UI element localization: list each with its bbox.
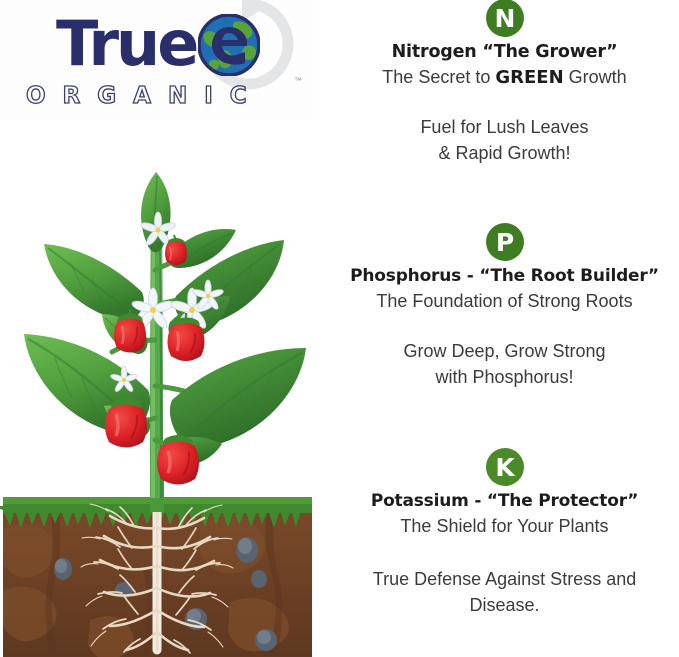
nutrient-block-nitrogen: N Nitrogen “The Grower” The Secret to GR… <box>330 2 679 166</box>
nutrient-block-potassium: K Potassium - “The Protector” The Shield… <box>330 447 679 618</box>
globe-e-icon <box>198 14 260 76</box>
nutrient-title: Phosphorus - “The Root Builder” <box>330 266 679 286</box>
tagline-line: Disease. <box>330 592 679 618</box>
nutrient-subtitle: The Foundation of Strong Roots <box>330 291 679 312</box>
svg-text:K: K <box>495 453 516 482</box>
tagline-line: Grow Deep, Grow Strong <box>330 338 679 364</box>
left-column: True ORGANIC ™ <box>0 0 330 657</box>
tagline-line: Fuel for Lush Leaves <box>330 114 679 140</box>
logo-wordmark-true: True <box>56 14 196 74</box>
nutrient-subtitle: The Secret to GREEN Growth <box>330 67 679 88</box>
nitrogen-badge-icon: N <box>485 0 525 38</box>
svg-text:N: N <box>494 4 515 33</box>
nutrient-title: Potassium - “The Protector” <box>330 491 679 511</box>
brand-logo: True ORGANIC ™ <box>0 0 313 120</box>
nutrient-tagline: Fuel for Lush Leaves & Rapid Growth! <box>330 114 679 166</box>
infographic-page: True ORGANIC ™ <box>0 0 679 657</box>
potassium-badge-icon: K <box>485 447 525 487</box>
logo-wordmark-organic: ORGANIC <box>26 83 298 109</box>
nutrient-subtitle-pre: The Shield for Your Plants <box>400 516 608 536</box>
nutrient-tagline: Grow Deep, Grow Strong with Phosphorus! <box>330 338 679 390</box>
tagline-line: with Phosphorus! <box>330 364 679 390</box>
nutrient-title: Nitrogen “The Grower” <box>330 42 679 62</box>
nutrient-tagline: True Defense Against Stress and Disease. <box>330 566 679 618</box>
tagline-line: & Rapid Growth! <box>330 140 679 166</box>
nutrient-subtitle-bold: GREEN <box>495 67 563 88</box>
nutrient-block-phosphorus: P Phosphorus - “The Root Builder” The Fo… <box>330 222 679 390</box>
right-column: N Nitrogen “The Grower” The Secret to GR… <box>330 0 679 657</box>
pepper-plant-illustration <box>0 150 330 657</box>
nutrient-subtitle-pre: The Secret to <box>382 67 495 87</box>
svg-text:P: P <box>495 228 513 257</box>
plant-leaves <box>24 172 306 465</box>
trademark-symbol: ™ <box>294 76 302 85</box>
nutrient-subtitle-pre: The Foundation of Strong Roots <box>376 291 632 311</box>
tagline-line: True Defense Against Stress and <box>330 566 679 592</box>
nutrient-subtitle-post: Growth <box>564 67 627 87</box>
phosphorus-badge-icon: P <box>485 222 525 262</box>
nutrient-subtitle: The Shield for Your Plants <box>330 516 679 537</box>
